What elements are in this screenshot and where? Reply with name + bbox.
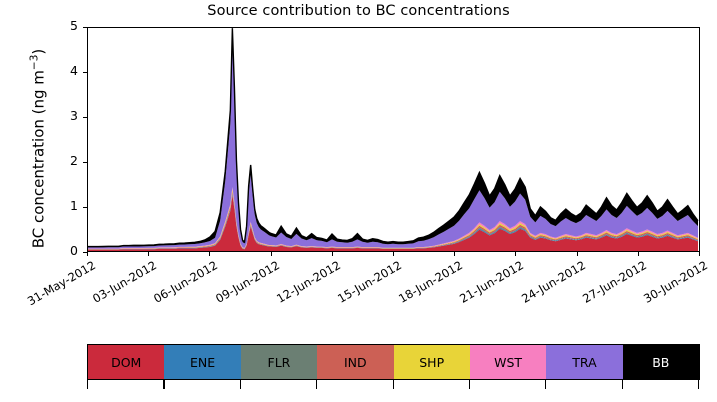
x-tick-mark bbox=[87, 252, 88, 256]
legend-item-label: ENE bbox=[190, 355, 215, 370]
legend-item-ind[interactable]: IND bbox=[317, 345, 393, 379]
legend-item-label: IND bbox=[344, 355, 367, 370]
y-axis-label: BC concentration (ng m−3) bbox=[29, 19, 48, 279]
x-tick-mark bbox=[209, 252, 210, 256]
legend-item-label: BB bbox=[652, 355, 669, 370]
stacked-area-svg bbox=[88, 28, 699, 251]
legend-item-label: TRA bbox=[572, 355, 596, 370]
legend-item-tra[interactable]: TRA bbox=[546, 345, 622, 379]
legend-tick-mark bbox=[393, 380, 394, 389]
legend-item-label: SHP bbox=[419, 355, 444, 370]
x-tick-mark bbox=[454, 252, 455, 256]
legend-tick-mark bbox=[316, 380, 317, 389]
legend-item-label: WST bbox=[494, 355, 522, 370]
y-tick-label: 3 bbox=[48, 108, 78, 123]
y-axis-label-exponent: −3 bbox=[29, 55, 41, 70]
legend-colorbar: DOMENEFLRINDSHPWSTTRABB bbox=[87, 344, 700, 380]
y-tick-label: 5 bbox=[48, 18, 78, 33]
legend-tick-mark bbox=[622, 380, 623, 389]
chart-figure: Source contribution to BC concentrations… bbox=[0, 0, 717, 402]
y-tick-label: 4 bbox=[48, 63, 78, 78]
legend-item-ene[interactable]: ENE bbox=[164, 345, 240, 379]
legend-item-label: DOM bbox=[111, 355, 141, 370]
legend-tick-mark bbox=[87, 380, 88, 389]
plot-area bbox=[88, 28, 699, 251]
x-tick-mark bbox=[577, 252, 578, 256]
legend-tick-mark bbox=[240, 380, 241, 389]
legend-tick-mark bbox=[469, 380, 470, 389]
legend-item-wst[interactable]: WST bbox=[470, 345, 546, 379]
legend-tick-mark bbox=[698, 380, 699, 389]
legend-item-bb[interactable]: BB bbox=[623, 345, 699, 379]
x-tick-mark bbox=[638, 252, 639, 256]
y-axis-label-close: ) bbox=[30, 49, 48, 55]
y-tick-label: 0 bbox=[48, 243, 78, 258]
x-tick-mark bbox=[148, 252, 149, 256]
y-axis-label-text: BC concentration (ng m bbox=[30, 70, 48, 248]
area-series-tra bbox=[88, 44, 698, 248]
chart-title: Source contribution to BC concentrations bbox=[0, 3, 717, 19]
x-tick-mark bbox=[271, 252, 272, 256]
legend-tick-marks bbox=[87, 380, 700, 390]
legend-item-label: FLR bbox=[268, 355, 291, 370]
x-tick-mark bbox=[515, 252, 516, 256]
y-tick-label: 2 bbox=[48, 153, 78, 168]
y-tick-label: 1 bbox=[48, 198, 78, 213]
legend-item-shp[interactable]: SHP bbox=[394, 345, 470, 379]
legend-tick-mark bbox=[545, 380, 546, 389]
x-tick-mark bbox=[699, 252, 700, 256]
legend-item-flr[interactable]: FLR bbox=[241, 345, 317, 379]
x-tick-mark bbox=[393, 252, 394, 256]
legend-item-dom[interactable]: DOM bbox=[88, 345, 164, 379]
legend-tick-mark bbox=[163, 380, 164, 389]
x-tick-mark bbox=[332, 252, 333, 256]
